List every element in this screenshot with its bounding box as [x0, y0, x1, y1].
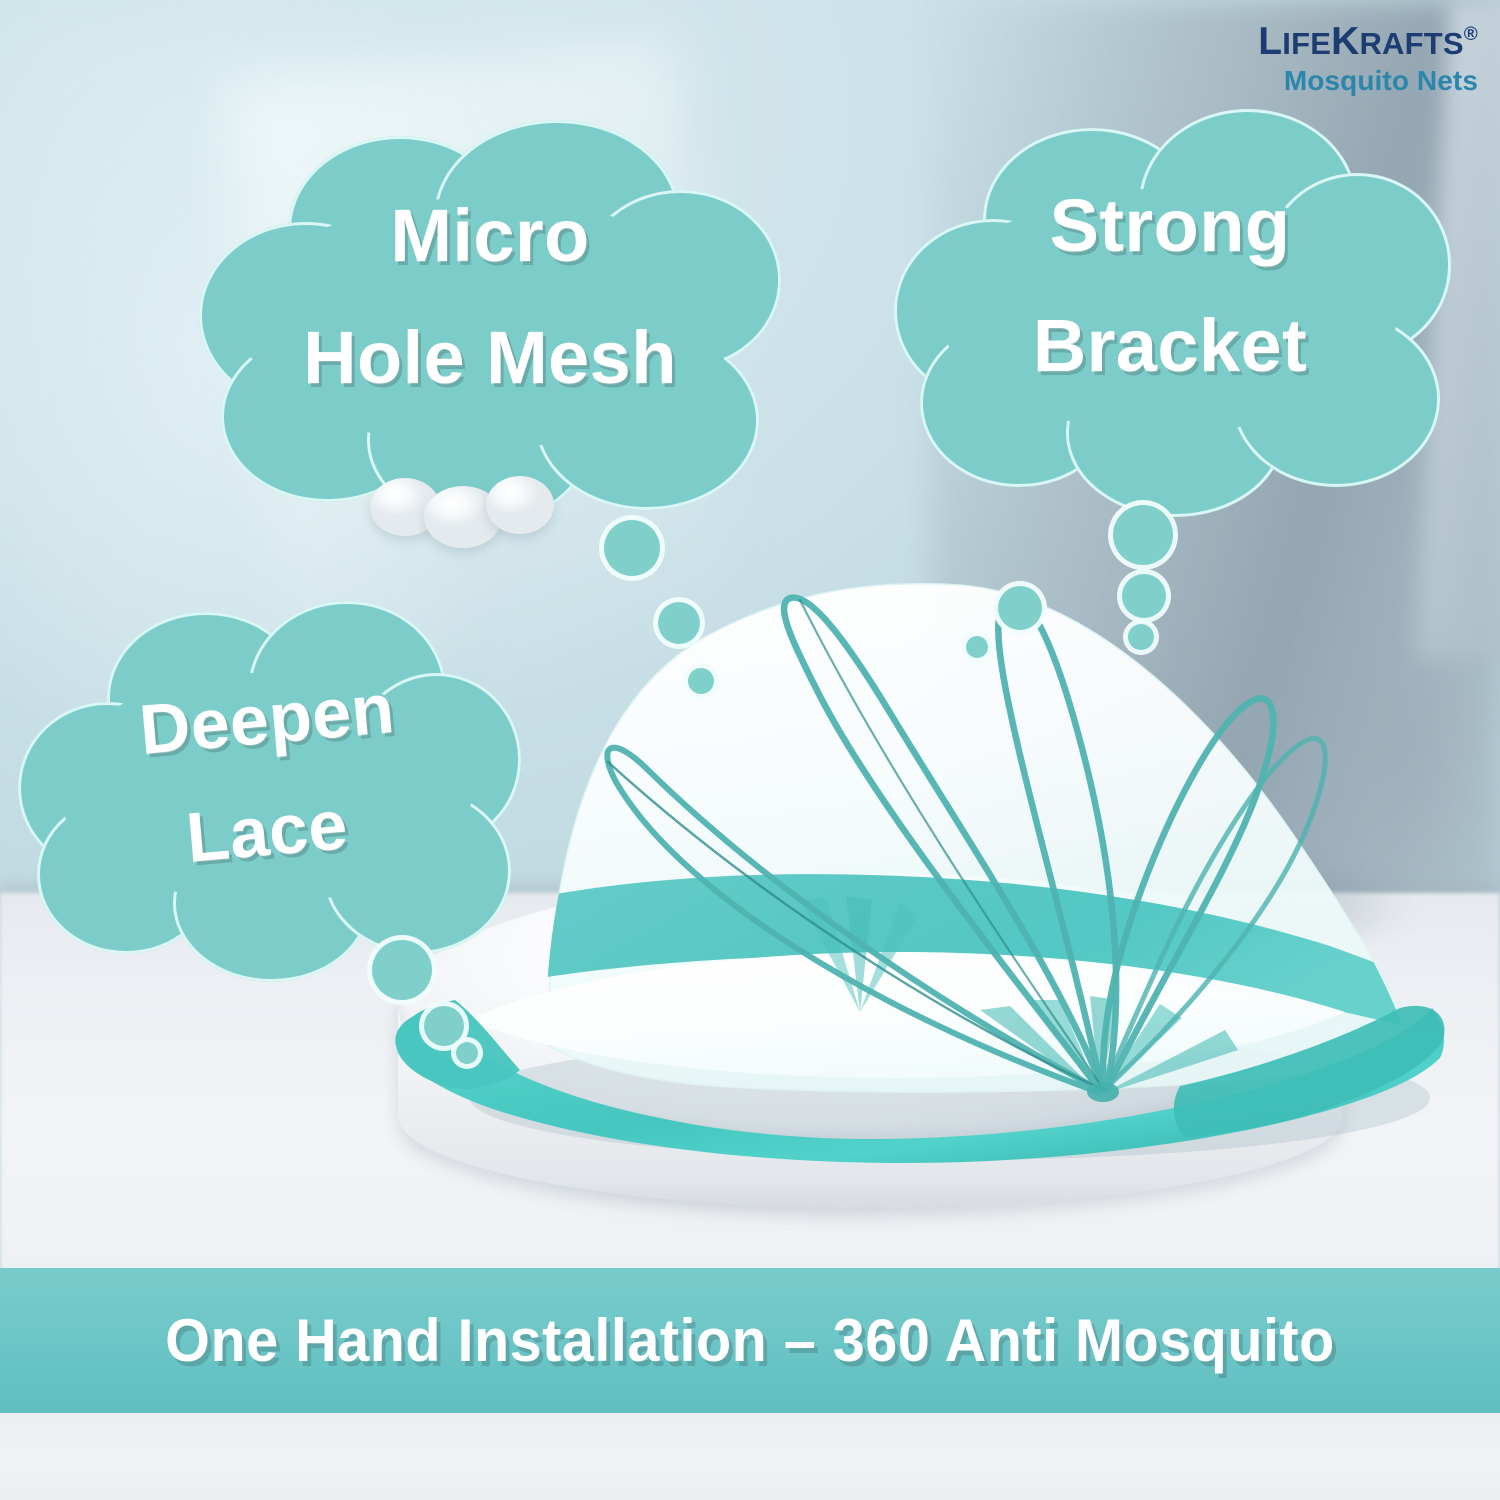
cloud-text-line2: Hole Mesh [210, 318, 770, 398]
brand-name-l: L [1258, 20, 1282, 63]
brand-tagline: Mosquito Nets [1258, 67, 1478, 95]
bracket-hub [1087, 1082, 1119, 1102]
cloud-text-line2: Bracket [910, 306, 1430, 386]
cloud-text-line1: Strong [910, 186, 1430, 266]
thought-bubble [1128, 624, 1154, 650]
thought-bubble [998, 586, 1042, 630]
thought-bubble [966, 636, 988, 658]
brand-name-ife: IFE [1282, 26, 1331, 61]
thought-bubble [372, 940, 432, 1000]
brand-name: LIFEKRAFTS® [1258, 22, 1478, 61]
brand-name-rafts: RAFTS [1359, 26, 1463, 61]
registered-trademark-icon: ® [1464, 24, 1478, 45]
brand-name-k: K [1331, 20, 1359, 63]
white-puff [486, 476, 554, 534]
thought-bubble [688, 668, 714, 694]
feature-cloud-deepen-lace: Deepen Lace [32, 608, 502, 968]
thought-bubble [1122, 574, 1166, 618]
thought-bubble [604, 520, 660, 576]
thought-bubble [658, 602, 700, 644]
footer-strip [0, 1413, 1500, 1500]
brand-logo: LIFEKRAFTS® Mosquito Nets [1258, 22, 1478, 95]
product-marketing-image: Micro Hole Mesh Strong Bracket Deepen [0, 0, 1500, 1500]
cloud-text-line1: Micro [210, 196, 770, 276]
bottom-banner: One Hand Installation – 360 Anti Mosquit… [0, 1268, 1500, 1417]
thought-bubble [456, 1042, 478, 1064]
thought-bubble [1113, 505, 1173, 565]
feature-cloud-strong-bracket: Strong Bracket [910, 120, 1430, 502]
banner-headline: One Hand Installation – 360 Anti Mosquit… [30, 1306, 1470, 1375]
thought-bubble [424, 1006, 464, 1046]
feature-cloud-micro-hole-mesh: Micro Hole Mesh [210, 128, 770, 518]
